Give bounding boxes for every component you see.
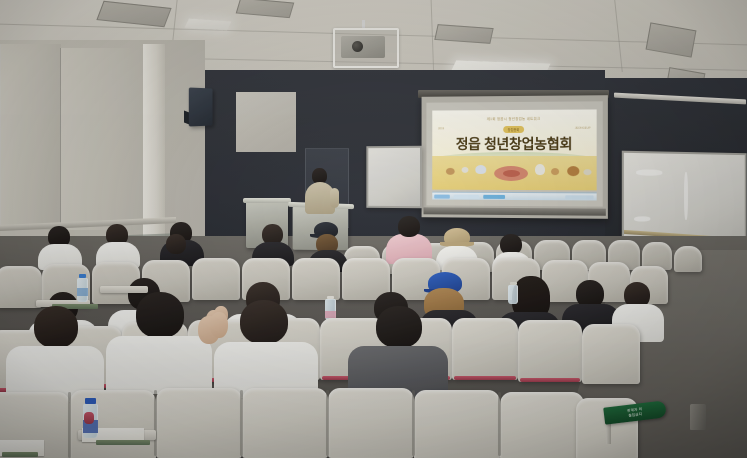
taskbar-tray[interactable] [565,195,593,199]
attendee-head [398,216,420,237]
seat-divider [326,390,329,456]
auditorium-seat[interactable] [292,258,340,300]
slide-produce-illustration [551,168,559,175]
auditorium-seat[interactable] [242,388,328,458]
auditorium-seat[interactable] [192,258,240,300]
slide-produce-illustration [475,165,486,174]
attendee-head [34,306,78,348]
ceiling-projector [341,36,385,58]
projection-screen: 제1회 정읍시 청년창업농 네트워크 창립총회 정읍 청년창업농협회 2019 … [422,95,608,219]
window-blinds [60,48,145,230]
secondary-podium-top [243,198,291,203]
bottle-body [508,285,518,304]
attendee-head [166,234,186,254]
blind-seam [60,48,61,230]
seat-divider [68,392,71,458]
presenter-arm [330,188,339,208]
aisle-sign-text: 관계자 외 출입금지 [627,407,643,418]
slide-produce-illustration [567,166,579,176]
front-wall-light-panel [236,92,296,152]
taskbar-app-item[interactable] [483,194,505,198]
desk-green-pad [96,440,150,445]
whiteboard [622,151,747,242]
slide-produce-illustration [462,167,469,173]
whiteboard-smudge [634,216,650,221]
slide-subtitle: 제1회 정읍시 청년창업농 네트워크 [432,116,596,122]
desk-green-pad [2,452,38,457]
whiteboard-small [366,146,422,208]
auditorium-seat[interactable] [452,318,518,380]
taskbar-app-item[interactable] [454,194,480,198]
taskbar-start-button[interactable] [434,194,450,198]
trash-bin[interactable] [690,404,706,430]
auditorium-seat[interactable] [414,390,500,458]
wall-column [143,44,165,244]
seat-divider [240,390,243,456]
seat-divider [154,390,157,456]
presentation-slide: 제1회 정읍시 청년창업농 네트워크 창립총회 정읍 청년창업농협회 2019 … [432,109,596,190]
fold-out-tablet-desk[interactable] [100,286,148,293]
screen-canvas: 제1회 정읍시 청년창업농 네트워크 창립총회 정읍 청년창업농협회 2019 … [426,101,602,206]
seat-divider [412,390,415,456]
attendee-head [240,300,288,344]
seat-accent-trim [454,376,516,380]
auditorium-seat[interactable] [500,392,584,458]
whiteboard-smudge [684,172,688,220]
slide-produce-illustration [535,164,545,175]
slide-side-right: JEONGEUP [575,126,591,130]
auditorium-seat[interactable] [156,388,242,458]
lecture-hall-photo: 제1회 정읍시 청년창업농 네트워크 창립총회 정읍 청년창업농협회 2019 … [0,0,747,458]
bottle-label [325,311,336,318]
window-blinds [0,44,61,230]
slide-side-left: 2019 [438,126,444,130]
auditorium-seat[interactable] [518,320,582,382]
screen-bottom-weight-bar [424,207,606,215]
slide-produce-illustration [583,169,591,175]
windows-taskbar[interactable] [432,192,596,201]
seat-accent-trim [520,378,580,382]
attendee-white-shirt-clapping [106,336,212,394]
whiteboard-smudge [636,169,662,175]
clapping-hand [210,312,228,338]
slide-produce-illustration [446,168,455,175]
bottle-label [77,288,88,296]
projector-lens-icon [352,41,363,52]
attendee-head [136,292,184,338]
auditorium-seat[interactable] [582,324,640,384]
slide-title: 정읍 청년창업농협회 [432,134,596,154]
auditorium-seat[interactable] [674,246,702,272]
seat-divider [498,392,501,456]
auditorium-seat[interactable] [328,388,414,458]
wall-speaker [189,87,213,126]
attendee-head [376,306,422,348]
slide-produce-illustration [503,170,520,177]
seat-accent-trim [84,412,94,424]
slide-badge: 창립총회 [503,126,525,133]
